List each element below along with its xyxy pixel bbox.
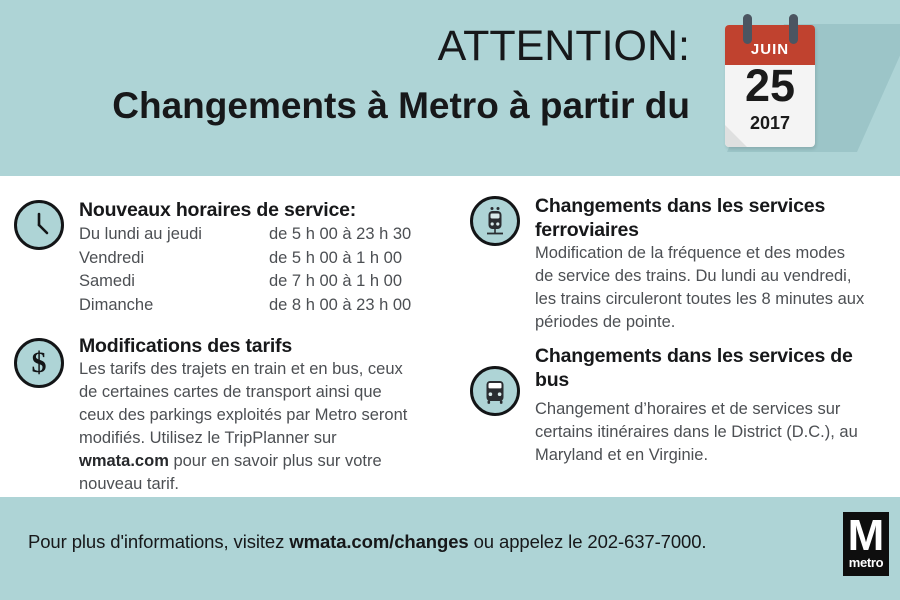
fares-body: Les tarifs des trajets en train et en bu… bbox=[79, 358, 434, 496]
schedule-hours: de 8 h 00 à 23 h 00 bbox=[269, 294, 434, 318]
schedule-hours: de 7 h 00 à 1 h 00 bbox=[269, 270, 434, 294]
page-title: Changements à Metro à partir du bbox=[50, 80, 690, 132]
footer-text-part2: ou appelez le 202-637-7000. bbox=[469, 531, 707, 552]
schedule-title: Nouveaux horaires de service: bbox=[79, 198, 434, 222]
content-area: Nouveaux horaires de service: Du lundi a… bbox=[0, 176, 900, 497]
schedule-day: Du lundi au jeudi bbox=[79, 223, 269, 247]
metro-logo-word: metro bbox=[849, 556, 884, 570]
bus-title: Changements dans les services de bus bbox=[535, 344, 870, 392]
block-fares: $ Modifications des tarifs Les tarifs de… bbox=[14, 334, 434, 496]
footer-text: Pour plus d'informations, visitez wmata.… bbox=[28, 531, 706, 553]
calendar-icon: JUIN 25 2017 bbox=[724, 14, 884, 164]
schedule-hours: de 5 h 00 à 1 h 00 bbox=[269, 247, 434, 271]
fares-link-wmata[interactable]: wmata.com bbox=[79, 452, 169, 470]
fares-body-part1: Les tarifs des trajets en train et en bu… bbox=[79, 360, 407, 447]
calendar-month: JUIN bbox=[751, 41, 789, 58]
clock-icon bbox=[14, 200, 64, 250]
footer-text-part1: Pour plus d'informations, visitez bbox=[28, 531, 289, 552]
fares-title: Modifications des tarifs bbox=[79, 334, 434, 358]
bus-icon bbox=[470, 366, 520, 416]
schedule-day: Vendredi bbox=[79, 247, 269, 271]
calendar-ring-left bbox=[743, 14, 752, 44]
calendar-ring-right bbox=[789, 14, 798, 44]
calendar-header: JUIN bbox=[725, 25, 815, 65]
train-icon bbox=[470, 196, 520, 246]
table-row: Samedi de 7 h 00 à 1 h 00 bbox=[79, 270, 434, 294]
table-row: Vendredi de 5 h 00 à 1 h 00 bbox=[79, 247, 434, 271]
calendar-body: JUIN 25 2017 bbox=[725, 25, 815, 147]
infographic-poster: ATTENTION: Changements à Metro à partir … bbox=[0, 0, 900, 600]
table-row: Du lundi au jeudi de 5 h 00 à 23 h 30 bbox=[79, 223, 434, 247]
schedule-hours: de 5 h 00 à 23 h 30 bbox=[269, 223, 434, 247]
header-text-group: ATTENTION: Changements à Metro à partir … bbox=[50, 20, 690, 132]
metro-logo: M metro bbox=[843, 512, 889, 576]
footer-band: Pour plus d'informations, visitez wmata.… bbox=[0, 497, 900, 600]
metro-logo-letter: M bbox=[848, 514, 885, 558]
table-row: Dimanche de 8 h 00 à 23 h 00 bbox=[79, 294, 434, 318]
rail-body: Modification de la fréquence et des mode… bbox=[535, 242, 870, 334]
schedule-text: Nouveaux horaires de service: Du lundi a… bbox=[79, 198, 434, 317]
schedule-day: Dimanche bbox=[79, 294, 269, 318]
footer-link-changes[interactable]: wmata.com/changes bbox=[289, 531, 468, 552]
rail-title: Changements dans les services ferroviair… bbox=[535, 194, 870, 242]
block-bus: Changements dans les services de bus Cha… bbox=[470, 344, 870, 467]
schedule-day: Samedi bbox=[79, 270, 269, 294]
bus-body: Changement d’horaires et de services sur… bbox=[535, 398, 870, 467]
schedule-table: Du lundi au jeudi de 5 h 00 à 23 h 30 Ve… bbox=[79, 223, 434, 317]
attention-heading: ATTENTION: bbox=[50, 20, 690, 72]
header-band: ATTENTION: Changements à Metro à partir … bbox=[0, 0, 900, 176]
calendar-day: 25 bbox=[725, 61, 815, 111]
calendar-year: 2017 bbox=[725, 113, 815, 134]
dollar-icon: $ bbox=[14, 338, 64, 388]
block-schedule: Nouveaux horaires de service: Du lundi a… bbox=[14, 198, 434, 317]
block-rail: Changements dans les services ferroviair… bbox=[470, 194, 870, 334]
bus-text: Changements dans les services de bus Cha… bbox=[535, 344, 870, 467]
rail-text: Changements dans les services ferroviair… bbox=[535, 194, 870, 334]
fares-text: Modifications des tarifs Les tarifs des … bbox=[79, 334, 434, 496]
